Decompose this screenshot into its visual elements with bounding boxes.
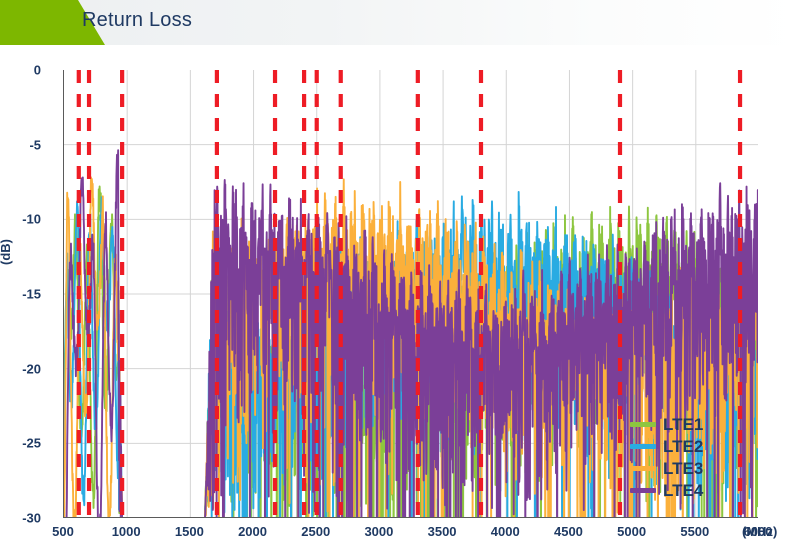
- chart-legend: LTE1LTE2LTE3LTE4: [630, 413, 750, 501]
- x-tick-label: 3500: [412, 524, 472, 539]
- legend-swatch-icon: [630, 466, 656, 471]
- y-tick-label: -15: [1, 287, 41, 302]
- y-tick-label: -5: [1, 137, 41, 152]
- x-tick-label: 2500: [286, 524, 346, 539]
- y-axis-label: (dB): [0, 239, 13, 265]
- x-tick-label: 4500: [538, 524, 598, 539]
- x-tick-label: 1000: [96, 524, 156, 539]
- x-tick-label: 2000: [223, 524, 283, 539]
- legend-swatch-icon: [630, 422, 656, 427]
- legend-item-lte4[interactable]: LTE4: [630, 479, 750, 501]
- page-header: Return Loss: [0, 0, 799, 45]
- legend-label: LTE2: [663, 438, 703, 455]
- legend-item-lte3[interactable]: LTE3: [630, 457, 750, 479]
- x-tick-label: 1500: [159, 524, 219, 539]
- y-tick-label: -10: [1, 212, 41, 227]
- legend-label: LTE1: [663, 416, 703, 433]
- legend-swatch-icon: [630, 488, 656, 493]
- x-tick-label: 5000: [602, 524, 662, 539]
- x-tick-label: 3000: [349, 524, 409, 539]
- legend-swatch-icon: [630, 444, 656, 449]
- legend-label: LTE3: [663, 460, 703, 477]
- y-tick-label: -25: [1, 436, 41, 451]
- x-tick-label: 4000: [475, 524, 535, 539]
- x-axis-unit-label: (MHz): [742, 524, 777, 539]
- legend-item-lte2[interactable]: LTE2: [630, 435, 750, 457]
- x-tick-label: 5500: [665, 524, 725, 539]
- x-tick-label: 500: [33, 524, 93, 539]
- legend-label: LTE4: [663, 482, 703, 499]
- legend-item-lte1[interactable]: LTE1: [630, 413, 750, 435]
- y-tick-label: 0: [1, 63, 41, 78]
- page-title: Return Loss: [82, 9, 192, 32]
- y-tick-label: -20: [1, 361, 41, 376]
